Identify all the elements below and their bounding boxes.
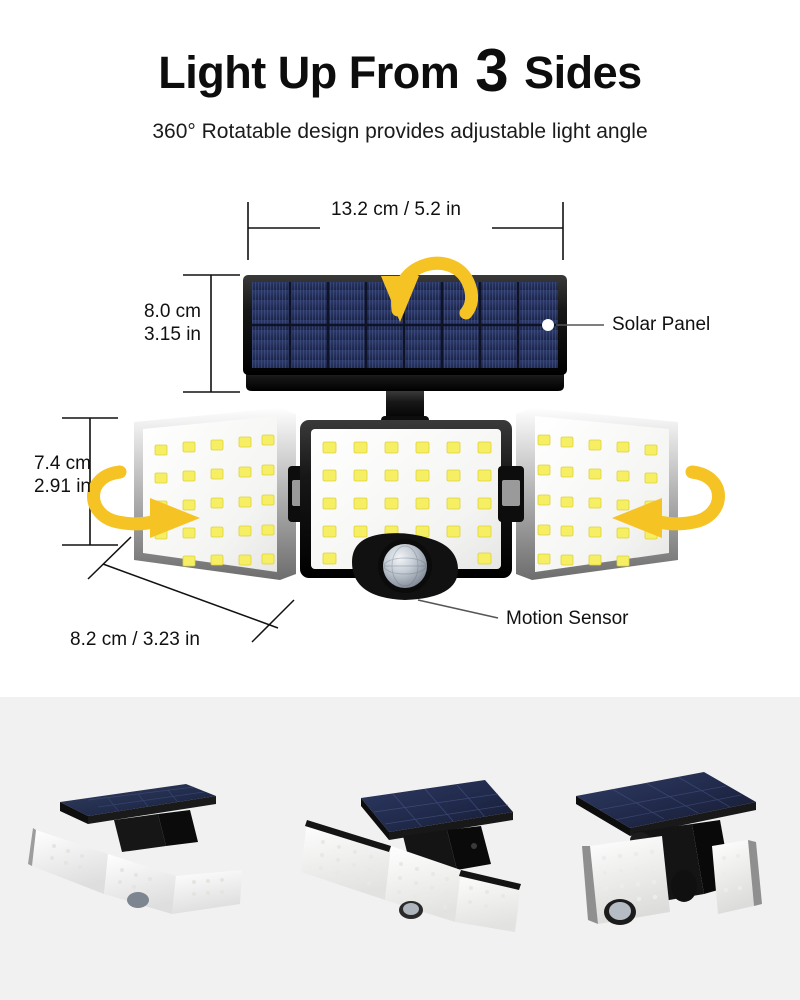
product-view-three-quarter <box>270 729 530 969</box>
left-led-panel <box>134 408 314 580</box>
gallery2-motion-sensor <box>403 903 419 915</box>
dimension-label-light-height: 7.4 cm 2.91 in <box>13 452 91 498</box>
motion-sensor-leader-line <box>418 600 498 618</box>
title-text-prefix: Light Up From <box>158 47 459 98</box>
gallery3-right-panel <box>712 840 754 914</box>
product-view-panels-folded <box>537 729 797 969</box>
callout-label-motion-sensor: Motion Sensor <box>506 608 629 630</box>
product-gallery-strip <box>0 697 800 1000</box>
dimension-label-light-height-cm: 7.4 cm <box>13 452 91 475</box>
product-dimension-diagram: 13.2 cm / 5.2 in 8.0 cm 3.15 in 7.4 cm 2… <box>0 170 800 680</box>
center-led-panel <box>300 420 512 600</box>
header: Light Up From 3 Sides 360° Rotatable des… <box>0 0 800 144</box>
right-panel-face <box>535 416 669 572</box>
dimension-label-solar-height-in: 3.15 in <box>129 323 201 346</box>
right-panel-hinge-pin <box>502 480 520 506</box>
right-led-panel <box>498 408 678 580</box>
dimension-label-light-height-in: 2.91 in <box>13 475 91 498</box>
gallery1-bracket <box>114 814 166 852</box>
gallery3-hinge-knuckle <box>671 870 697 902</box>
page-title: Light Up From 3 Sides <box>0 44 800 98</box>
dimension-label-width: 13.2 cm / 5.2 in <box>331 198 461 221</box>
page-subtitle: 360° Rotatable design provides adjustabl… <box>0 120 800 144</box>
gallery3-motion-sensor <box>609 902 631 920</box>
callout-label-solar-panel: Solar Panel <box>612 314 710 336</box>
left-panel-face <box>143 416 277 572</box>
light-sensor-dot <box>542 319 554 331</box>
title-text-suffix: Sides <box>524 47 642 98</box>
product-view-panels-flat <box>3 729 263 969</box>
title-number-3: 3 <box>471 37 512 104</box>
dimension-label-solar-height-cm: 8.0 cm <box>129 300 201 323</box>
dimension-label-depth: 8.2 cm / 3.23 in <box>70 628 200 651</box>
diagram-svg <box>0 170 800 680</box>
dimension-label-solar-height: 8.0 cm 3.15 in <box>129 300 201 346</box>
product-gallery-row <box>0 697 800 1000</box>
gallery1-motion-sensor <box>127 892 149 908</box>
gallery2-solar-top <box>361 780 513 832</box>
gallery2-screw-hole <box>471 843 477 849</box>
gallery2-left-panel <box>301 820 391 900</box>
gallery1-left-panel <box>32 830 108 894</box>
